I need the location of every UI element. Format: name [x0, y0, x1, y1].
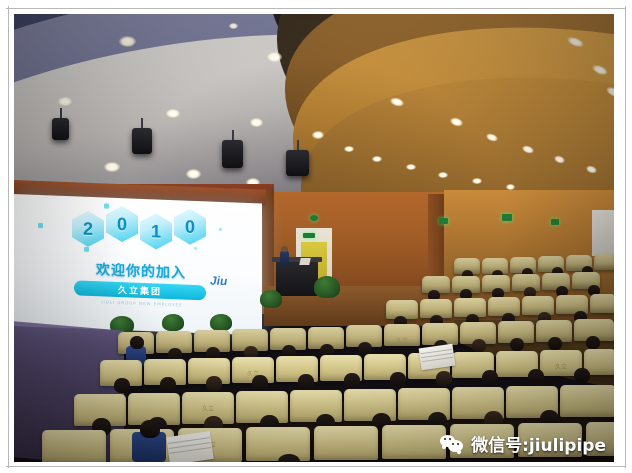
screen-corner-logo: Jiu	[210, 274, 227, 289]
seat: 久立	[384, 324, 420, 346]
exit-sign-ceiling	[310, 215, 318, 221]
attendee-head	[298, 374, 314, 389]
ceiling-projector-box	[286, 150, 309, 176]
watermark-account: jiulipipe	[529, 436, 606, 456]
screen-banner-text: 久立集团	[118, 283, 162, 298]
page-canvas: 2 0 1 0 欢迎你的加入 久立集团 JIULI GROUP NEW EMPL…	[0, 0, 632, 473]
year-digit-4: 0	[185, 216, 195, 237]
ceiling-downlight	[472, 178, 482, 184]
seat	[522, 296, 554, 315]
stage-plant	[314, 276, 340, 298]
attendee-head	[344, 373, 360, 388]
screen-decor-square	[104, 203, 109, 208]
wechat-eye	[457, 443, 459, 445]
wechat-eye	[452, 443, 454, 445]
paper-line	[169, 447, 211, 454]
frame-line-right	[625, 6, 626, 468]
wechat-eye	[444, 438, 446, 440]
ceiling-downlight	[406, 164, 416, 170]
ceiling-downlight	[267, 52, 282, 62]
screen-decor-dot	[219, 228, 222, 231]
year-hex-digit: 0	[106, 206, 138, 243]
attendee-head	[130, 336, 144, 349]
seat	[590, 294, 614, 313]
seat	[560, 385, 614, 417]
ceiling-downlight	[250, 118, 263, 127]
seat-brand-label: 久立	[182, 404, 234, 413]
attendee-head	[390, 372, 406, 387]
watermark-label: 微信号:jiulipipe	[471, 431, 606, 456]
attendee-head	[160, 377, 176, 392]
attendee-head	[252, 375, 268, 390]
ceiling-downlight	[229, 23, 238, 29]
presenter-body	[280, 250, 289, 266]
screen-banner-pill: 久立集团	[74, 280, 206, 300]
ceiling-downlight	[186, 169, 201, 179]
handout-paper	[419, 344, 456, 371]
frame-line-top	[6, 8, 626, 9]
attendee-head	[586, 336, 600, 349]
seat	[290, 390, 342, 422]
seat-brand-label: 久立	[384, 336, 420, 345]
attendee-head	[114, 378, 130, 393]
exit-sign	[303, 233, 315, 238]
year-hex-digit: 2	[72, 210, 104, 247]
paper-line	[421, 357, 453, 362]
watermark-prefix: 微信号:	[471, 436, 529, 456]
year-digit-1: 2	[83, 218, 93, 239]
seat	[42, 430, 106, 462]
ceiling-downlight	[58, 97, 72, 106]
frame-line-bottom	[6, 466, 626, 467]
stage-plant	[162, 314, 184, 331]
seat	[314, 426, 378, 460]
exit-sign-hanging	[439, 218, 448, 224]
ceiling-downlight	[438, 172, 448, 178]
wechat-bubble-small	[448, 440, 463, 452]
hall-window	[592, 210, 614, 256]
attendee-head	[436, 371, 452, 386]
attendee-head	[574, 368, 590, 383]
screen-decor-square	[84, 247, 89, 252]
wechat-icon	[440, 434, 464, 454]
ceiling-speaker-box	[52, 118, 69, 140]
attendee-head	[278, 454, 300, 462]
seat	[382, 425, 446, 459]
ceiling-downlight	[312, 131, 324, 139]
wechat-eye	[449, 438, 451, 440]
ceiling-downlight	[344, 146, 354, 152]
attendee-head	[482, 370, 498, 385]
attendee-head	[510, 338, 524, 351]
attendee-head	[206, 376, 222, 391]
handout-paper	[166, 431, 213, 462]
stage-plant	[260, 290, 282, 308]
ceiling-downlight	[166, 109, 180, 118]
attendee-head	[528, 369, 544, 384]
screen-decor-square	[38, 223, 43, 228]
year-hex-digit: 1	[140, 213, 172, 250]
wechat-watermark: 微信号:jiulipipe	[440, 431, 606, 456]
ceiling-downlight	[372, 156, 382, 162]
exit-sign-hanging	[551, 219, 559, 225]
auditorium-photo: 2 0 1 0 欢迎你的加入 久立集团 JIULI GROUP NEW EMPL…	[14, 14, 614, 462]
year-digit-2: 0	[117, 213, 127, 234]
seat	[594, 254, 614, 270]
stage-plant	[210, 314, 232, 331]
ceiling-downlight	[104, 162, 120, 172]
seat	[246, 427, 310, 461]
exit-sign-hanging	[502, 214, 512, 221]
ceiling-speaker-box	[132, 128, 152, 154]
year-hex-row: 2 0 1 0	[72, 210, 206, 251]
attendee-head	[140, 420, 160, 438]
year-hex-digit: 0	[174, 208, 206, 245]
attendee-head	[472, 339, 486, 352]
attendee-head	[548, 337, 562, 350]
year-digit-3: 1	[151, 221, 161, 242]
ceiling-downlight	[119, 36, 136, 47]
ceiling-speaker-box	[222, 140, 243, 168]
presenter-head	[281, 246, 288, 252]
presenter-laptop	[299, 258, 310, 265]
frame-line-left	[8, 6, 9, 468]
